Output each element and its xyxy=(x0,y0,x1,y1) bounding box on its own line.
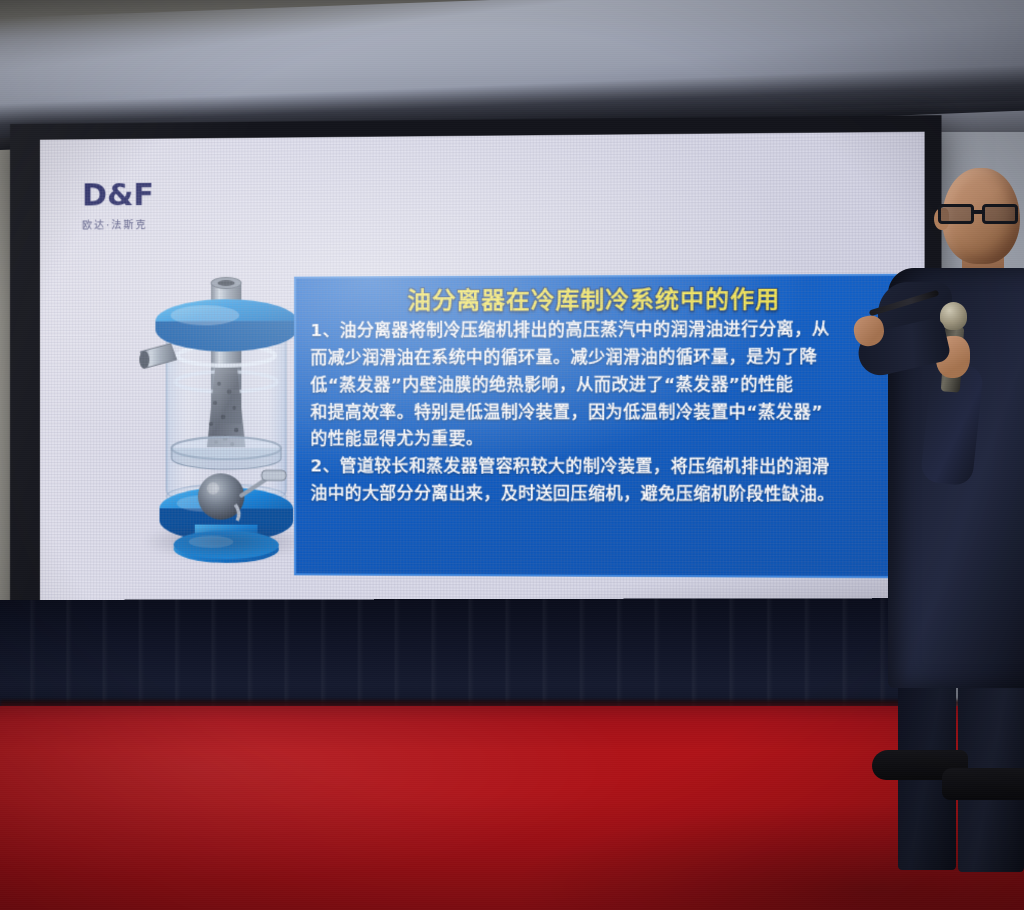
presentation-slide: D&F 欧达·法斯克 xyxy=(40,132,925,618)
glasses-lens-right xyxy=(982,204,1018,224)
logo-subtitle: 欧达·法斯克 xyxy=(82,216,193,232)
slide-body-line-7: 油中的大部分分离出来，及时送回压缩机，避免压缩机阶段性缺油。 xyxy=(310,480,880,508)
speaker-person xyxy=(830,150,1024,850)
slide-body-line-3: 低“蒸发器”内壁油膜的绝热影响，从而改进了“蒸发器”的性能 xyxy=(310,371,880,399)
slide-body-line-4: 和提高效率。特别是低温制冷装置，因为低温制冷装置中“蒸发器” xyxy=(310,399,880,426)
glasses-bridge xyxy=(972,210,984,214)
slide-title: 油分离器在冷库制冷系统中的作用 xyxy=(310,286,880,315)
logo-wordmark: D&F xyxy=(82,181,193,212)
slide-body-line-6: 2、管道较长和蒸发器管容积较大的制冷装置，将压缩机排出的润滑 xyxy=(310,453,880,481)
speaker-shoe-right xyxy=(942,768,1024,800)
product-drop-shadow xyxy=(144,524,306,559)
company-logo: D&F 欧达·法斯克 xyxy=(82,181,193,232)
speaker-glasses xyxy=(936,204,1024,224)
presentation-photo-scene: D&F 欧达·法斯克 xyxy=(0,0,1024,910)
slide-body-line-2: 而减少润滑油在系统中的循环量。减少润滑油的循环量，是为了降 xyxy=(310,344,880,372)
slide-text-box: 油分离器在冷库制冷系统中的作用 1、油分离器将制冷压缩机排出的高压蒸汽中的润滑油… xyxy=(294,274,897,578)
slide-body-line-1: 1、油分离器将制冷压缩机排出的高压蒸汽中的润滑油进行分离，从 xyxy=(310,317,880,346)
slide-body-line-5: 的性能显得尤为重要。 xyxy=(310,426,880,454)
glasses-lens-left xyxy=(938,204,974,224)
